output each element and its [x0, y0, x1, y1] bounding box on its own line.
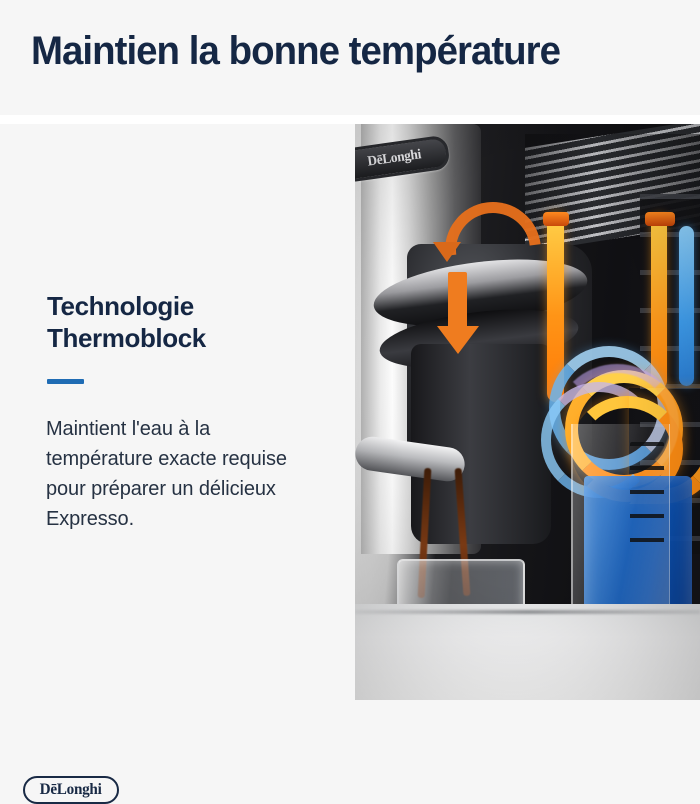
water-flow-down-arrow-shaft — [448, 272, 467, 330]
water-tank-level-marks — [630, 442, 664, 562]
page-title: Maintien la bonne température — [31, 29, 560, 74]
feature-description: Maintient l'eau à la température exacte … — [46, 414, 312, 534]
countertop-edge — [355, 610, 700, 614]
header-divider — [0, 115, 700, 124]
feature-heading-line1: Technologie — [47, 291, 194, 321]
product-photo: DēLonghi — [355, 124, 700, 700]
feature-heading-line2: Thermoblock — [47, 322, 307, 354]
feature-heading: Technologie Thermoblock — [47, 290, 307, 354]
tube-fitting-left — [543, 212, 569, 226]
product-photo-illustration: DēLonghi — [355, 124, 700, 700]
water-flow-curved-arrow-head — [433, 242, 461, 262]
delonghi-logo: DēLonghi — [23, 776, 119, 804]
promo-slide: Maintien la bonne température Technologi… — [0, 0, 700, 700]
water-flow-down-arrow-head — [437, 326, 479, 354]
accent-divider — [47, 379, 84, 384]
text-panel: Technologie Thermoblock Maintient l'eau … — [0, 124, 355, 700]
machine-delonghi-badge-text: DēLonghi — [366, 147, 422, 170]
delonghi-logo-text: DēLonghi — [40, 782, 102, 798]
countertop — [355, 604, 700, 700]
tube-fitting-middle — [645, 212, 675, 226]
header-band: Maintien la bonne température — [0, 0, 700, 115]
